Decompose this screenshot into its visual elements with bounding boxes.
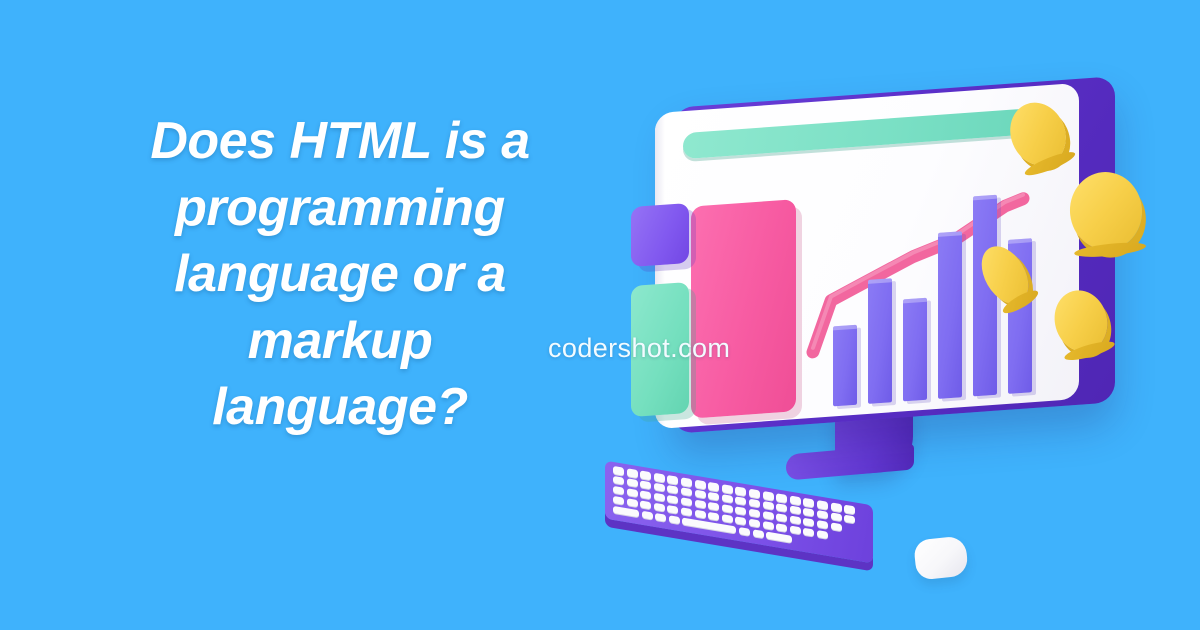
keyboard-key — [749, 489, 760, 498]
mouse — [913, 535, 969, 580]
keyboard-key — [613, 496, 624, 505]
keyboard-key — [613, 476, 624, 485]
chart-bar — [868, 278, 892, 404]
keyboard-key — [803, 527, 814, 536]
keyboard-key — [667, 505, 678, 514]
keyboard-key — [722, 504, 733, 513]
keyboard-key — [735, 516, 746, 525]
keyboard — [605, 483, 875, 555]
keyboard-key — [817, 500, 828, 509]
keyboard-keys — [613, 466, 865, 558]
keyboard-key — [681, 507, 692, 516]
chart-bar — [973, 195, 997, 397]
keyboard-key — [640, 500, 651, 509]
keyboard-key — [776, 493, 787, 502]
keyboard-key — [695, 499, 706, 508]
keyboard-key — [613, 466, 624, 475]
keyboard-key — [763, 491, 774, 500]
keyboard-key — [667, 475, 678, 484]
keyboard-key — [749, 499, 760, 508]
keyboard-key — [831, 522, 842, 531]
keyboard-key — [627, 488, 638, 497]
keyboard-key — [708, 512, 719, 521]
keyboard-key — [722, 514, 733, 523]
hero-illustration — [0, 0, 1200, 630]
keyboard-key — [654, 483, 665, 492]
keyboard-key — [803, 508, 814, 517]
keyboard-key — [803, 518, 814, 527]
keyboard-key — [749, 518, 760, 527]
keyboard-key — [753, 529, 764, 538]
keyboard-key — [655, 513, 666, 522]
keyboard-key — [763, 521, 774, 530]
keyboard-key — [667, 485, 678, 494]
keyboard-key — [642, 510, 653, 519]
keyboard-key — [790, 525, 801, 534]
keyboard-key — [627, 478, 638, 487]
keyboard-key — [817, 530, 828, 539]
keyboard-key — [776, 503, 787, 512]
keyboard-key — [763, 511, 774, 520]
keyboard-key — [831, 512, 842, 521]
keyboard-key — [654, 502, 665, 511]
keyboard-key — [790, 495, 801, 504]
keyboard-key — [763, 501, 774, 510]
keyboard-key — [735, 486, 746, 495]
keyboard-key — [735, 506, 746, 515]
keyboard-key — [654, 493, 665, 502]
keyboard-key — [803, 498, 814, 507]
keyboard-key — [722, 494, 733, 503]
keyboard-key — [735, 496, 746, 505]
keyboard-key — [640, 480, 651, 489]
keyboard-key — [627, 498, 638, 507]
chart-bar — [938, 231, 962, 399]
chart-bar — [833, 325, 857, 407]
monitor-stand-foot — [786, 443, 914, 480]
keyboard-key — [790, 505, 801, 514]
keyboard-key — [790, 515, 801, 524]
keyboard-key — [766, 531, 792, 543]
keyboard-key — [844, 514, 855, 523]
keyboard-key — [817, 520, 828, 529]
keyboard-key — [749, 508, 760, 517]
keyboard-key — [722, 484, 733, 493]
keyboard-key — [613, 505, 639, 517]
keyboard-key — [708, 502, 719, 511]
keyboard-key — [831, 502, 842, 511]
keyboard-key — [817, 510, 828, 519]
keyboard-key — [695, 480, 706, 489]
keyboard-key — [613, 486, 624, 495]
keyboard-key — [669, 515, 680, 524]
poster-canvas: Does HTML is a programming language or a… — [0, 0, 1200, 630]
chart-bar — [903, 298, 927, 402]
keyboard-key — [695, 489, 706, 498]
keyboard-key — [681, 487, 692, 496]
keyboard-key — [776, 523, 787, 532]
keyboard-key — [695, 509, 706, 518]
keyboard-key — [640, 470, 651, 479]
keyboard-key — [739, 527, 750, 536]
keyboard-key — [667, 495, 678, 504]
keyboard-key — [708, 492, 719, 501]
keyboard-key — [776, 513, 787, 522]
keyboard-key — [844, 505, 855, 514]
keyboard-key — [654, 473, 665, 482]
floating-card-purple — [631, 203, 689, 267]
watermark: codershot.com — [548, 333, 730, 364]
keyboard-key — [627, 468, 638, 477]
keyboard-key — [640, 490, 651, 499]
keyboard-key — [708, 482, 719, 491]
keyboard-key — [681, 497, 692, 506]
keyboard-key — [681, 477, 692, 486]
